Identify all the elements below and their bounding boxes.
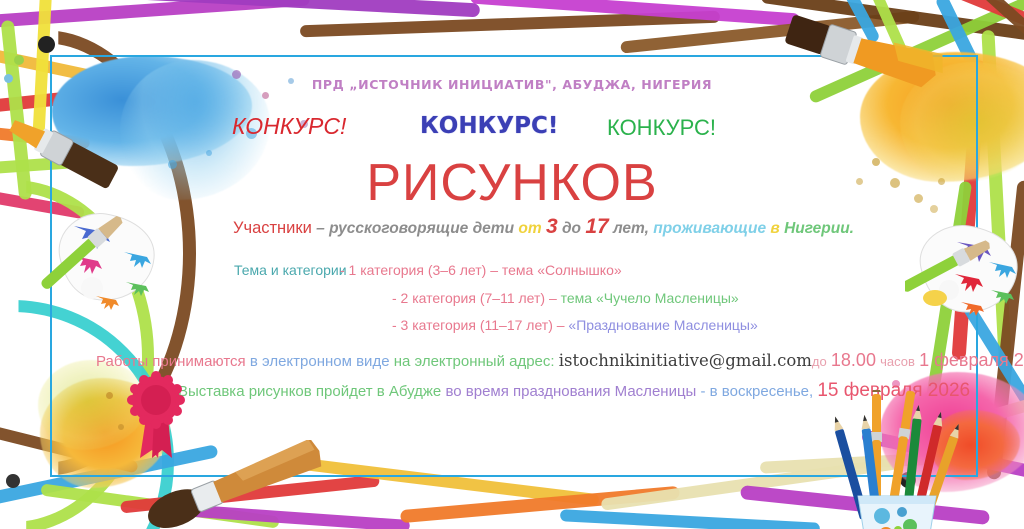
konkurs-row: КОНКУРС! КОНКУРС! КОНКУРС! bbox=[50, 113, 974, 147]
page-title: РИСУНКОВ bbox=[50, 153, 974, 213]
konkurs-blue-label: КОНКУРС! bbox=[420, 113, 558, 139]
paint-dot bbox=[4, 74, 13, 83]
years-word: лет, bbox=[613, 220, 649, 237]
paint-dot bbox=[6, 474, 20, 488]
paint-brush-top-left-icon bbox=[5, 110, 135, 200]
konkurs-green-label: КОНКУРС! bbox=[607, 115, 716, 141]
age-min: 3 bbox=[546, 215, 558, 238]
poster-canvas: ПРД „ИСТОЧНИК ИНИЦИАТИВ", АБУДЖА, НИГЕРИ… bbox=[0, 0, 1024, 529]
category-3-theme: «Празднование Масленицы» bbox=[568, 317, 757, 333]
stroke bbox=[400, 486, 680, 523]
stroke bbox=[0, 0, 310, 28]
category-2-prefix: - 2 категория (7–11 лет) – bbox=[392, 290, 561, 306]
konkurs-red-label: КОНКУРС! bbox=[232, 113, 346, 140]
submission-part3: на электронный адрес: bbox=[394, 353, 555, 370]
age-from-word: от bbox=[518, 220, 541, 237]
country-word: Нигерии. bbox=[784, 220, 854, 237]
category-2: - 2 категория (7–11 лет) – тема «Чучело … bbox=[392, 290, 739, 306]
submission-part2: в электронном виде bbox=[250, 353, 390, 370]
category-1-text: - 1 категория (3–6 лет) – тема «Солнышко… bbox=[340, 262, 622, 278]
stroke bbox=[560, 509, 820, 529]
exhibition-part1: Выставка рисунков пройдет в Абудже bbox=[178, 383, 441, 400]
pencil-cup-icon bbox=[828, 390, 968, 529]
paint-dot bbox=[38, 36, 55, 53]
categories-label: Тема и категории bbox=[234, 262, 347, 278]
submission-deadline-date: 1 февраля 2026 bbox=[919, 350, 1024, 370]
stroke bbox=[120, 0, 480, 17]
submission-until-word: до bbox=[812, 354, 827, 369]
participants-label: Участники bbox=[233, 219, 312, 237]
category-3-prefix: - 3 категория (11–17 лет) – bbox=[392, 317, 568, 333]
submission-hours-word: часов bbox=[880, 354, 915, 369]
artist-palette-bottom-left-icon bbox=[40, 200, 170, 310]
participants-line: Участники – русскоговорящие дети от 3 до… bbox=[233, 215, 854, 239]
submission-time: 18.00 bbox=[831, 350, 876, 370]
award-rosette-icon bbox=[118, 366, 194, 462]
category-3: - 3 категория (11–17 лет) – «Праздновани… bbox=[392, 317, 758, 333]
age-max: 17 bbox=[585, 215, 608, 238]
age-to-word: до bbox=[562, 220, 581, 237]
participants-desc: – русскоговорящие дети bbox=[316, 220, 514, 237]
category-2-theme: тема «Чучело Масленицы» bbox=[561, 290, 739, 306]
submission-line: Работы принимаются в электронном виде на… bbox=[96, 350, 1024, 371]
exhibition-part2: во время празднования Масленицы bbox=[445, 383, 696, 400]
artist-palette-right-icon bbox=[905, 212, 1024, 322]
stroke bbox=[300, 11, 720, 38]
paint-dot bbox=[14, 55, 24, 65]
paint-brush-top-right-icon bbox=[780, 10, 950, 90]
in-word: в bbox=[770, 220, 779, 237]
exhibition-part3: - в воскресенье, bbox=[701, 383, 814, 400]
category-1: - 1 категория (3–6 лет) – тема «Солнышко… bbox=[340, 262, 622, 278]
stroke bbox=[470, 0, 800, 26]
submission-email[interactable]: istochnikinitiative@gmail.com bbox=[559, 351, 812, 370]
living-word: проживающие bbox=[653, 220, 766, 237]
